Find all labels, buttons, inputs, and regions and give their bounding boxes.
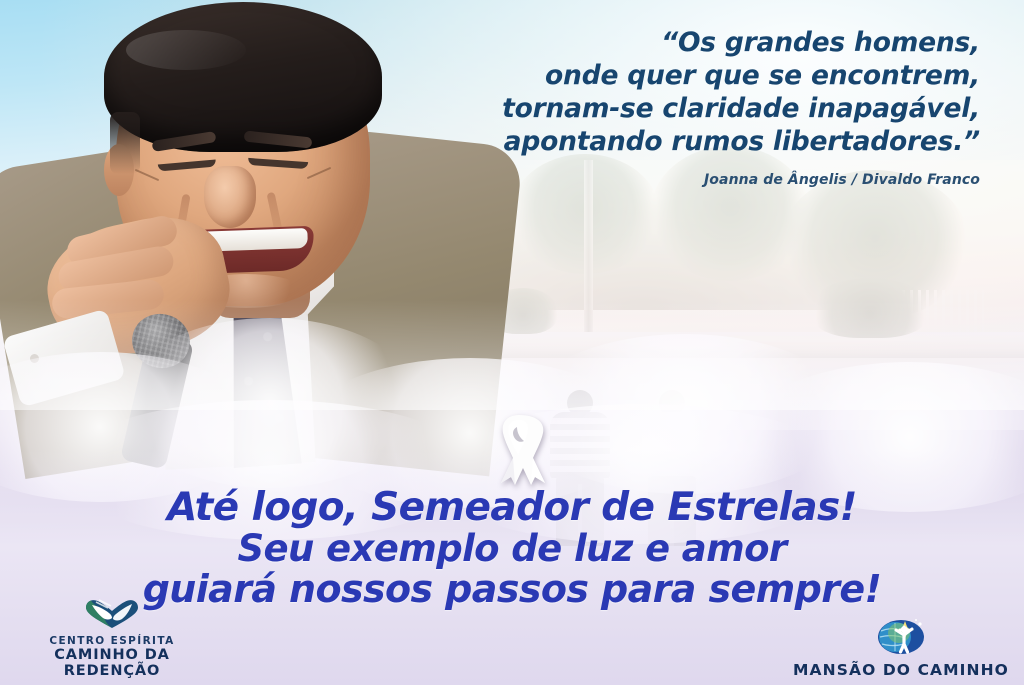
logo-right-line-2: MANSÃO DO CAMINHO — [786, 661, 1016, 679]
logo-left-line-1: CENTRO ESPÍRITA — [12, 635, 212, 647]
cuff-button — [30, 354, 39, 363]
headline-line-1: Até logo, Semeador de Estrelas! — [0, 487, 1024, 529]
logo-centro-espirita: CENTRO ESPÍRITA CAMINHO DA REDENÇÃO — [12, 599, 212, 679]
hands-heart-icon — [12, 599, 212, 633]
quote-line-4: apontando rumos libertadores.” — [420, 125, 980, 158]
scene-shrub-right — [810, 278, 930, 338]
person-torso — [642, 412, 702, 480]
quote-line-1: “Os grandes homens, — [420, 26, 980, 59]
scene-wall — [480, 332, 1024, 358]
globe-figure-star-icon — [786, 611, 1016, 659]
memorial-poster: “Os grandes homens, onde quer que se enc… — [0, 0, 1024, 685]
quote-line-3: tornam-se claridade inapagável, — [420, 92, 980, 125]
quote-attribution: Joanna de Ângelis / Divaldo Franco — [420, 172, 980, 188]
logo-mansao-do-caminho: MANSÃO DO CAMINHO — [786, 611, 1016, 679]
quote-text: “Os grandes homens, onde quer que se enc… — [420, 26, 980, 158]
logo-left-line-2: CAMINHO DA REDENÇÃO — [12, 647, 212, 679]
sideburn — [110, 112, 140, 174]
white-mourning-ribbon-icon — [487, 411, 551, 487]
headline-line-2: Seu exemplo de luz e amor — [0, 529, 1024, 569]
nose — [204, 166, 256, 228]
headline: Até logo, Semeador de Estrelas! Seu exem… — [0, 487, 1024, 610]
background-scene-photo — [480, 160, 1024, 430]
hair — [104, 2, 382, 152]
person-torso — [550, 412, 610, 480]
quote-line-2: onde quer que se encontrem, — [420, 59, 980, 92]
